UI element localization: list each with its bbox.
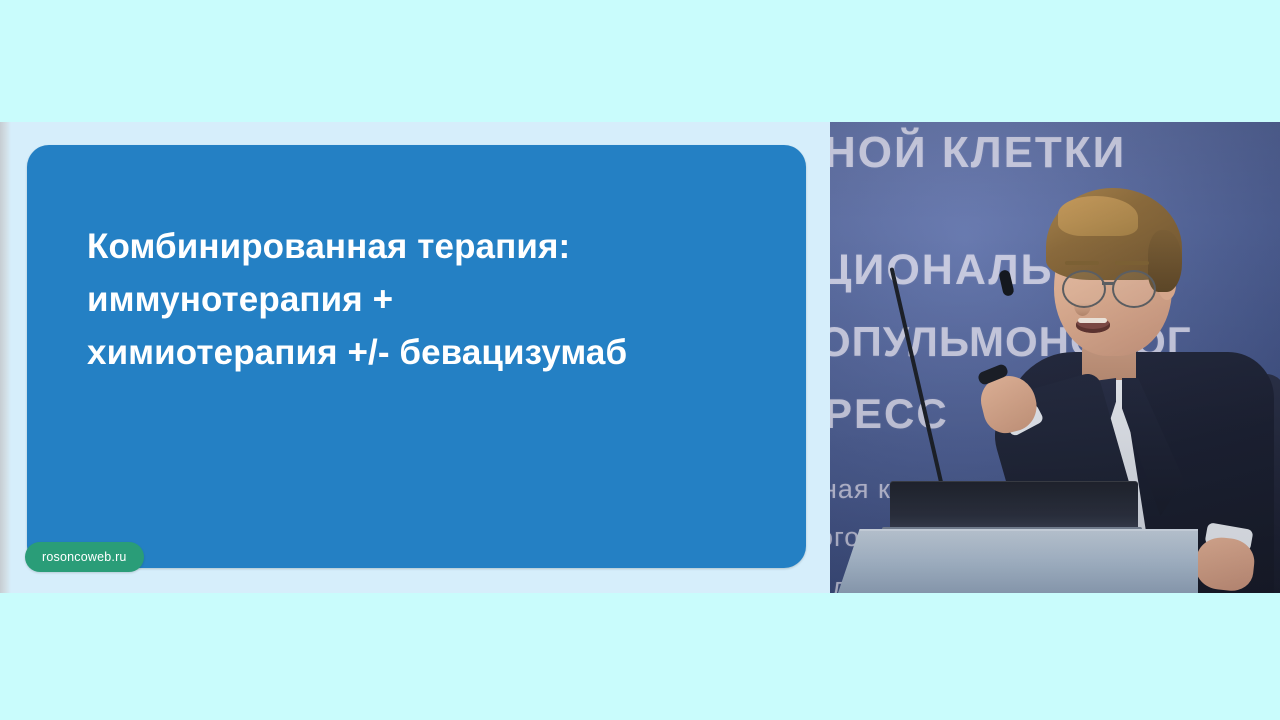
slide-card: Комбинированная терапия: иммунотерапия +… bbox=[27, 145, 806, 568]
site-badge[interactable]: rosoncoweb.ru bbox=[25, 542, 144, 572]
slide-pane: Комбинированная терапия: иммунотерапия +… bbox=[0, 122, 830, 593]
teeth bbox=[1078, 318, 1107, 323]
hair-fringe bbox=[1058, 196, 1138, 236]
laptop bbox=[890, 481, 1138, 531]
glasses-lens-right bbox=[1112, 270, 1156, 308]
podium bbox=[838, 529, 1198, 593]
eyebrow-left bbox=[1065, 261, 1099, 265]
content-strip: Комбинированная терапия: иммунотерапия +… bbox=[0, 122, 1280, 593]
video-player-stage: Комбинированная терапия: иммунотерапия +… bbox=[0, 0, 1280, 720]
speaker-video-pane[interactable]: НОЙ КЛЕТКИ ЦИОНАЛЬНЫЙ ОПУЛЬМОНОЛОГ РЕСС … bbox=[830, 122, 1280, 593]
nose bbox=[1074, 294, 1091, 316]
slide-title: Комбинированная терапия: иммунотерапия +… bbox=[87, 220, 777, 380]
glasses-bridge bbox=[1102, 282, 1114, 285]
site-badge-label: rosoncoweb.ru bbox=[42, 550, 127, 564]
eyebrow-right bbox=[1115, 261, 1149, 265]
